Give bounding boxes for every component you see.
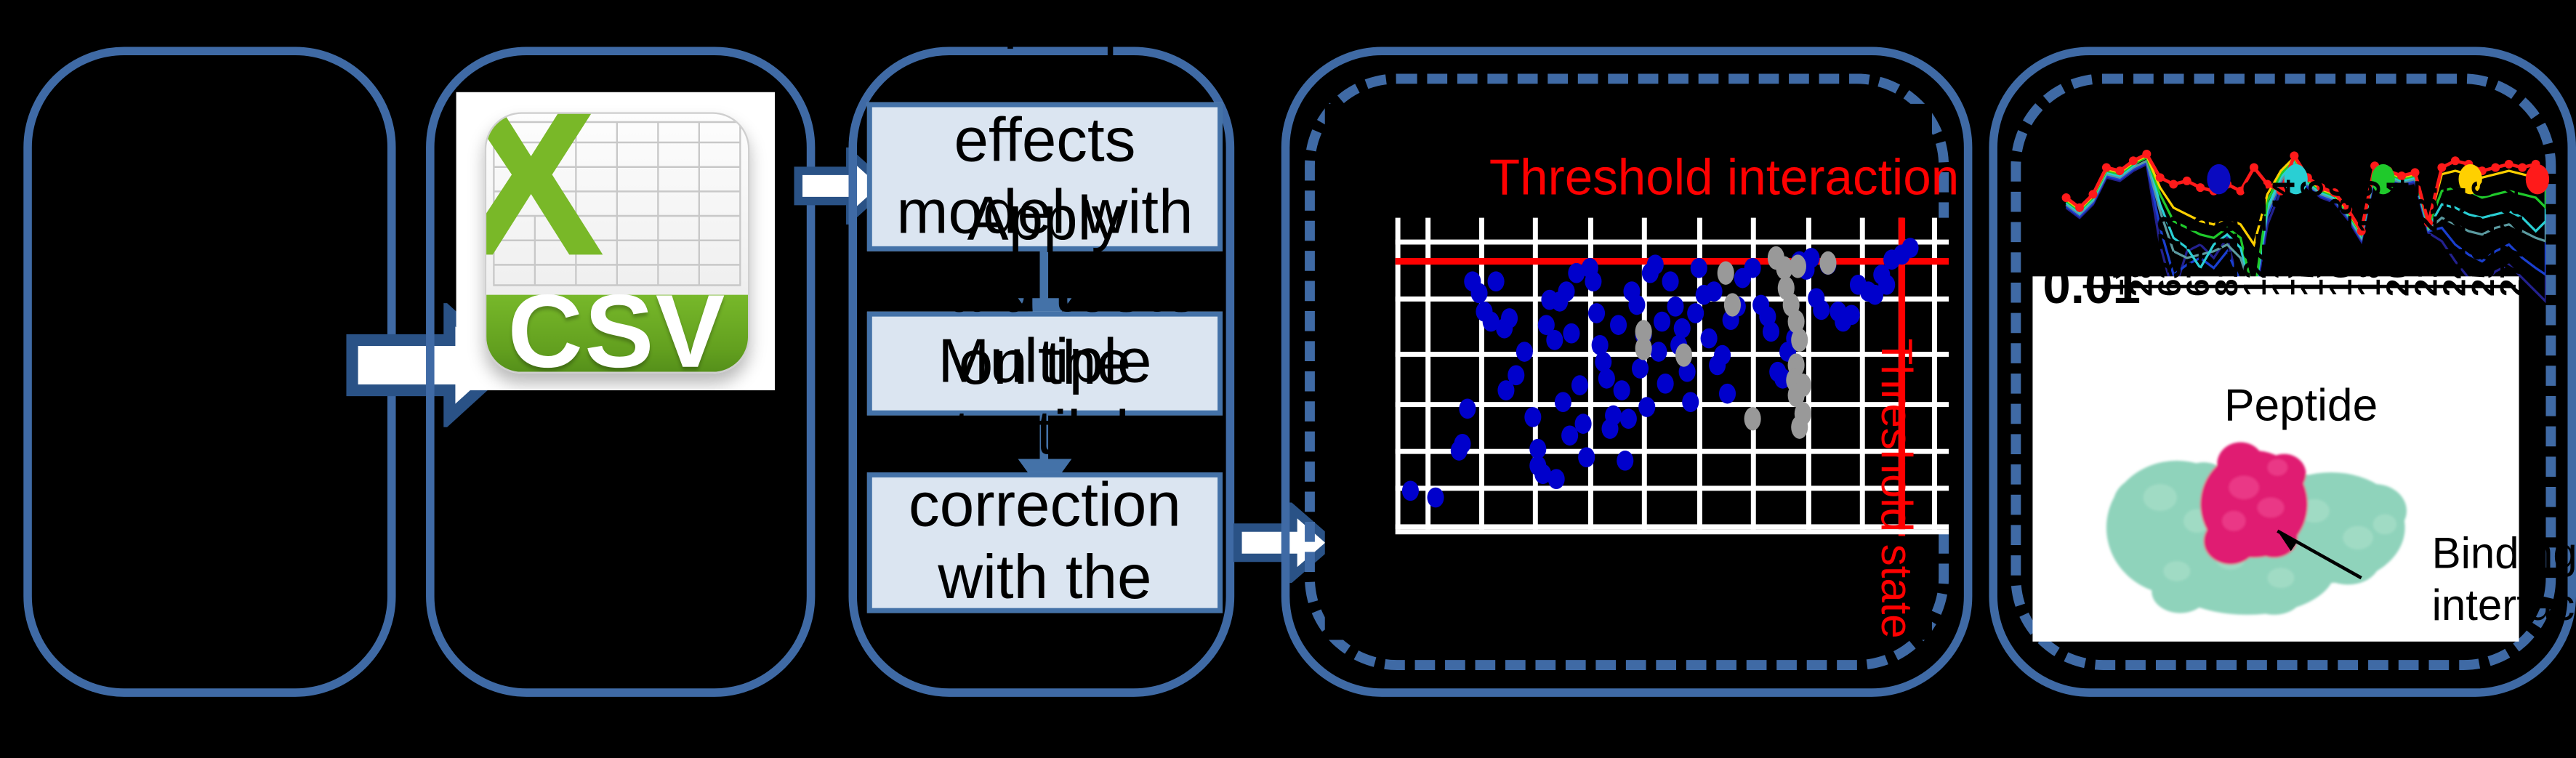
- csv-label-band: CSV: [486, 294, 747, 371]
- process-box-bh-text: Multiple testing correctionwith the BH p…: [889, 327, 1201, 758]
- process-box-bh: Multiple testing correctionwith the BH p…: [867, 472, 1223, 613]
- binding-interface-line1: Binding: [2432, 528, 2576, 578]
- threshold-interaction-label: Threshold interaction: [1489, 150, 1959, 207]
- stage-1-panel: [23, 47, 395, 697]
- csv-file-icon: X CSV: [456, 92, 775, 390]
- scatter-points: [1396, 218, 1949, 530]
- scatter-plot-area: [1396, 218, 1949, 530]
- legend-dot-blue: [2207, 164, 2230, 194]
- x-tick-label: 277-284: [2495, 180, 2532, 297]
- excel-x-mark: X: [492, 120, 571, 238]
- protein-structure-image: [2080, 424, 2432, 625]
- csv-tile: X CSV: [485, 113, 749, 372]
- axis-tick: [1396, 529, 1949, 534]
- volcano-scatter-panel: Threshold interaction: [1325, 104, 1932, 640]
- workflow-diagram: X CSV Fit a linear mixed-effects model w…: [0, 0, 2576, 687]
- threshold-state-label: Threshold state: [1870, 339, 1923, 639]
- binding-interface-label: Binding interface: [2432, 528, 2576, 630]
- peptide-inset-panel: 0.01 1-15 28-44 63-73 67-75 81-101 122-1…: [2032, 276, 2519, 641]
- binding-interface-line2: interface: [2432, 579, 2576, 629]
